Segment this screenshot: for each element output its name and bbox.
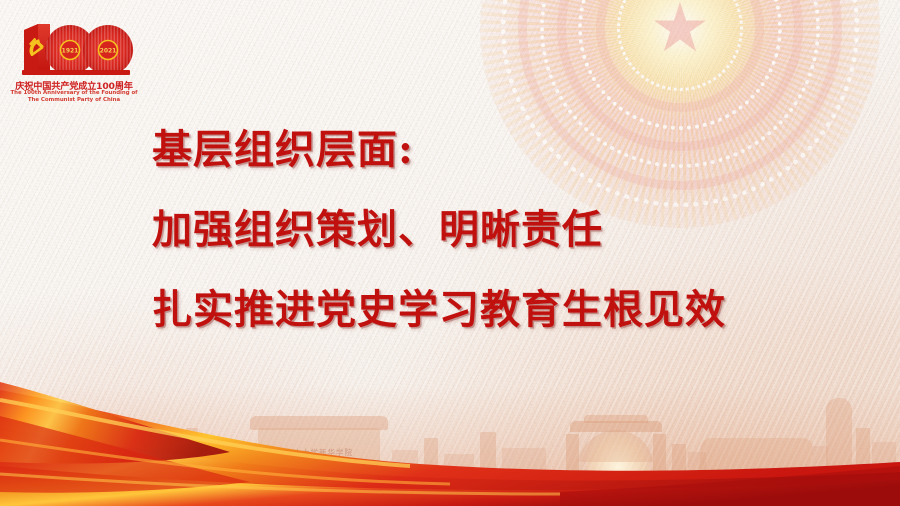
headline-line-1: 基层组织层面: (152, 124, 852, 176)
slide-canvas: 1921 2021 庆祝中国共产党成立100周年 The 100th Anniv… (0, 0, 900, 506)
emblem-year-1921: 1921 (62, 48, 79, 55)
emblem-year-2021: 2021 (100, 48, 117, 55)
emblem-english-caption-line1: The 100th Anniversary of the Founding of (4, 90, 144, 97)
cpc-centenary-emblem: 1921 2021 庆祝中国共产党成立100周年 The 100th Anniv… (8, 10, 140, 106)
headline-block: 基层组织层面: 加强组织策划、明晰责任 扎实推进党史学习教育生根见效 (152, 124, 852, 336)
headline-line-3: 扎实推进党史学习教育生根见效 (152, 284, 852, 336)
headline-line-2: 加强组织策划、明晰责任 (152, 204, 852, 256)
emblem-numeral-zero-2: 2021 (83, 25, 133, 75)
emblem-english-caption: The 100th Anniversary of the Founding of… (4, 90, 144, 104)
emblem-english-caption-line2: The Communist Party of China (4, 97, 144, 104)
